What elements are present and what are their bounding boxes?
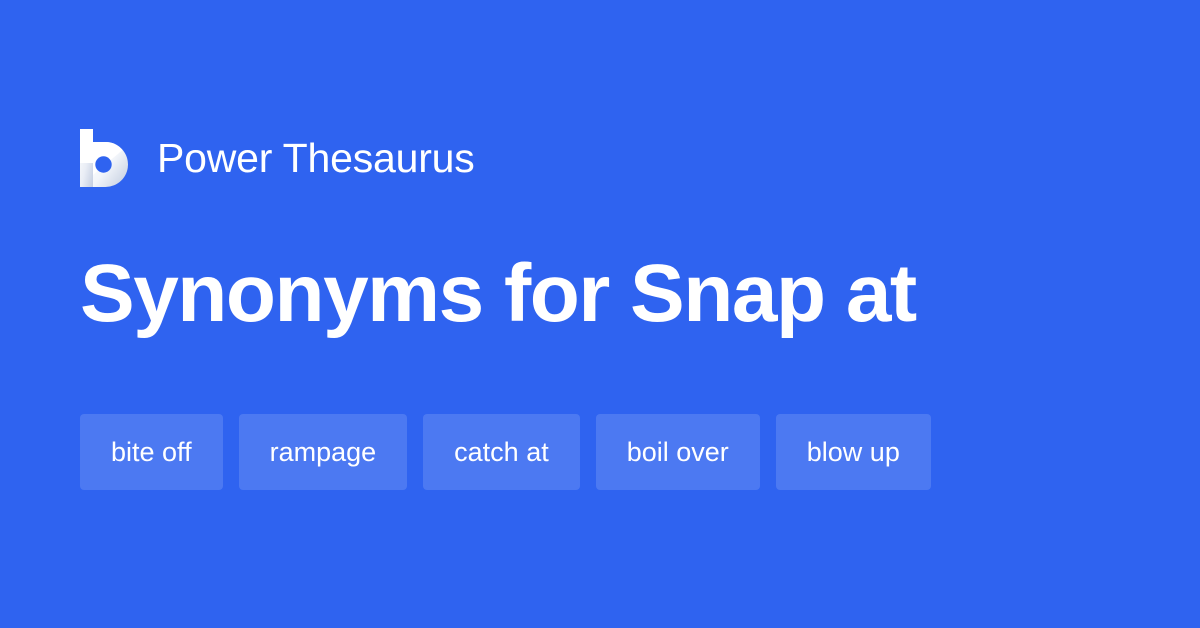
brand-name: power thesaurus bbox=[157, 138, 475, 179]
synonym-chip[interactable]: boil over bbox=[596, 414, 760, 490]
synonym-chip-label: catch at bbox=[454, 439, 549, 466]
synonym-chip[interactable]: bite off bbox=[80, 414, 223, 490]
synonym-chip[interactable]: blow up bbox=[776, 414, 931, 490]
brand-header[interactable]: power thesaurus bbox=[80, 126, 475, 190]
page-title: Synonyms for Snap at bbox=[80, 250, 916, 338]
synonym-chip[interactable]: rampage bbox=[239, 414, 408, 490]
synonym-chip-label: blow up bbox=[807, 439, 900, 466]
synonym-chip-label: rampage bbox=[270, 439, 377, 466]
synonym-chip-label: boil over bbox=[627, 439, 729, 466]
power-thesaurus-b-logo-icon bbox=[80, 129, 128, 187]
og-preview-card: power thesaurus Synonyms for Snap at bit… bbox=[0, 0, 1200, 628]
synonym-chip-label: bite off bbox=[111, 439, 192, 466]
synonym-chip-list: bite off rampage catch at boil over blow… bbox=[80, 414, 931, 490]
synonym-chip[interactable]: catch at bbox=[423, 414, 580, 490]
